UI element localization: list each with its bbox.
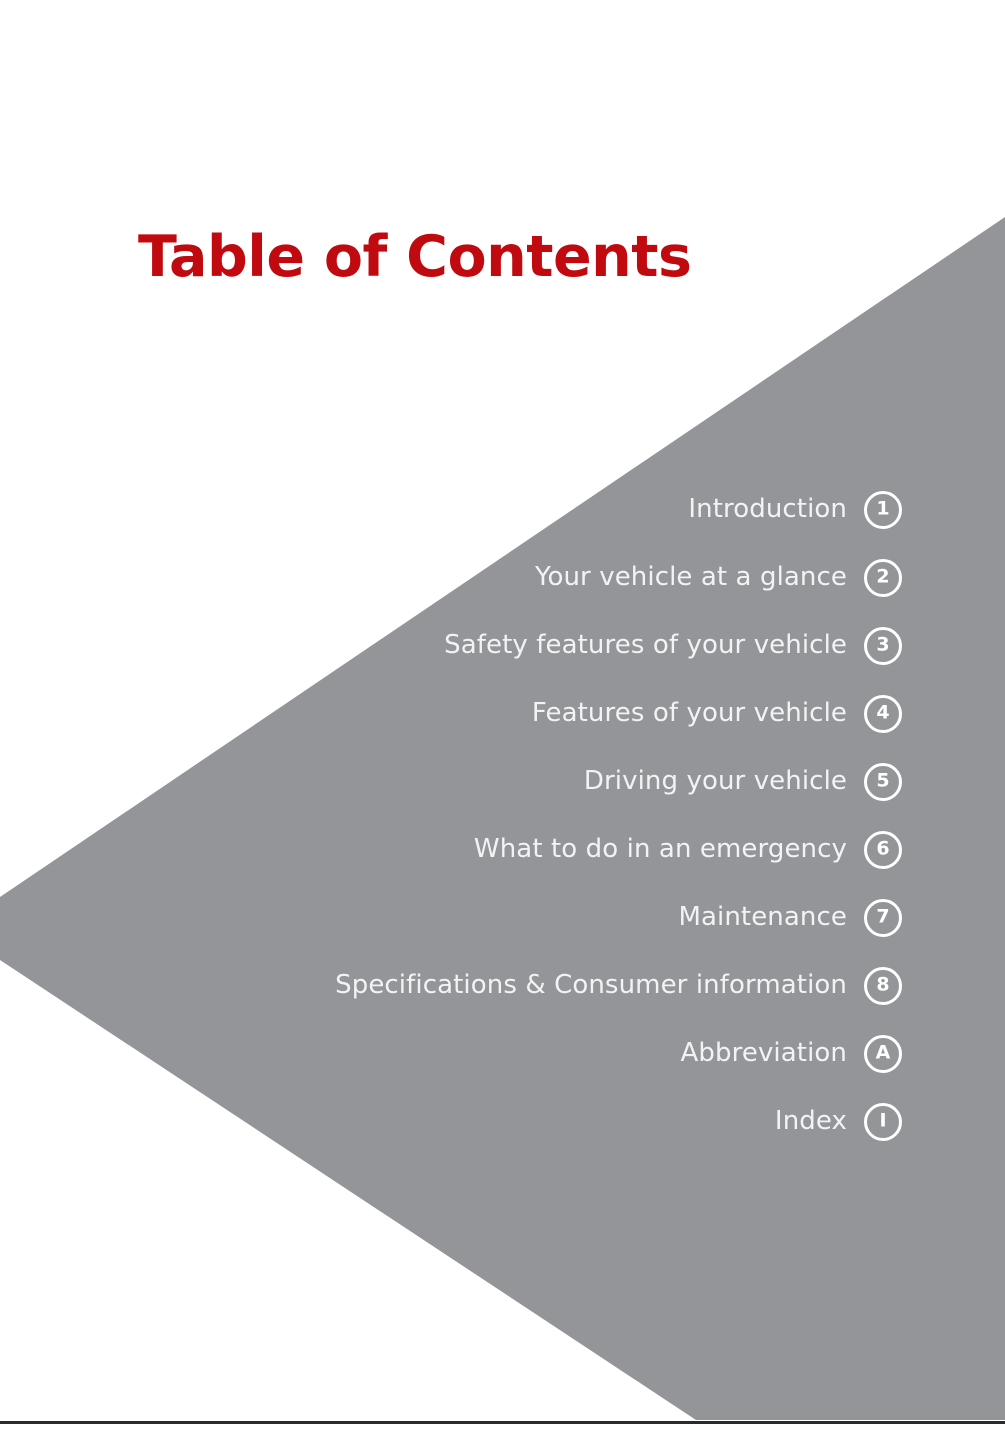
- toc-entry-label: Abbreviation: [681, 1040, 847, 1068]
- toc-badge-text: 5: [876, 772, 889, 791]
- toc-entry-badge: 3: [864, 627, 902, 665]
- toc-entry-badge: 6: [864, 831, 902, 869]
- toc-entry-your-vehicle-at-a-glance[interactable]: Your vehicle at a glance 2: [535, 552, 902, 603]
- toc-entry-label: Features of your vehicle: [532, 700, 847, 728]
- toc-entry-label: Specifications & Consumer information: [335, 972, 847, 1000]
- toc-badge-text: A: [876, 1044, 891, 1063]
- toc-badge-text: 6: [876, 840, 889, 859]
- toc-entry-badge: 8: [864, 967, 902, 1005]
- toc-badge-text: 2: [876, 568, 889, 587]
- toc-entry-features-of-your-vehicle[interactable]: Features of your vehicle 4: [532, 688, 902, 739]
- toc-badge-text: 7: [876, 908, 889, 927]
- toc-entry-badge: A: [864, 1035, 902, 1073]
- toc-entry-label: Safety features of your vehicle: [444, 632, 847, 660]
- toc-entry-badge: 4: [864, 695, 902, 733]
- toc-entry-label: Driving your vehicle: [584, 768, 847, 796]
- toc-entry-badge: 1: [864, 491, 902, 529]
- toc-entry-label: What to do in an emergency: [474, 836, 847, 864]
- toc-entry-abbreviation[interactable]: Abbreviation A: [681, 1028, 902, 1079]
- toc-entry-label: Introduction: [688, 496, 847, 524]
- page-title: Table of Contents: [138, 225, 691, 291]
- toc-entry-badge: 2: [864, 559, 902, 597]
- toc-entry-what-to-do-in-an-emergency[interactable]: What to do in an emergency 6: [474, 824, 902, 875]
- page-bottom-rule: [0, 1421, 1005, 1424]
- table-of-contents-page: Table of Contents Introduction 1 Your ve…: [0, 0, 1005, 1431]
- toc-entry-index[interactable]: Index I: [775, 1096, 902, 1147]
- toc-badge-text: 1: [876, 500, 889, 519]
- toc-entry-driving-your-vehicle[interactable]: Driving your vehicle 5: [584, 756, 902, 807]
- toc-entry-badge: 5: [864, 763, 902, 801]
- toc-entry-introduction[interactable]: Introduction 1: [688, 484, 902, 535]
- toc-entry-specifications-and-consumer-information[interactable]: Specifications & Consumer information 8: [335, 960, 902, 1011]
- toc-entry-label: Maintenance: [678, 904, 847, 932]
- table-of-contents-list: Introduction 1 Your vehicle at a glance …: [82, 484, 902, 1147]
- toc-entry-safety-features-of-your-vehicle[interactable]: Safety features of your vehicle 3: [444, 620, 902, 671]
- toc-entry-maintenance[interactable]: Maintenance 7: [678, 892, 902, 943]
- toc-badge-text: 4: [876, 704, 889, 723]
- toc-entry-label: Index: [775, 1108, 847, 1136]
- toc-entry-label: Your vehicle at a glance: [535, 564, 847, 592]
- toc-badge-text: 8: [876, 976, 889, 995]
- toc-entry-badge: 7: [864, 899, 902, 937]
- toc-badge-text: I: [879, 1112, 886, 1131]
- toc-entry-badge: I: [864, 1103, 902, 1141]
- toc-badge-text: 3: [876, 636, 889, 655]
